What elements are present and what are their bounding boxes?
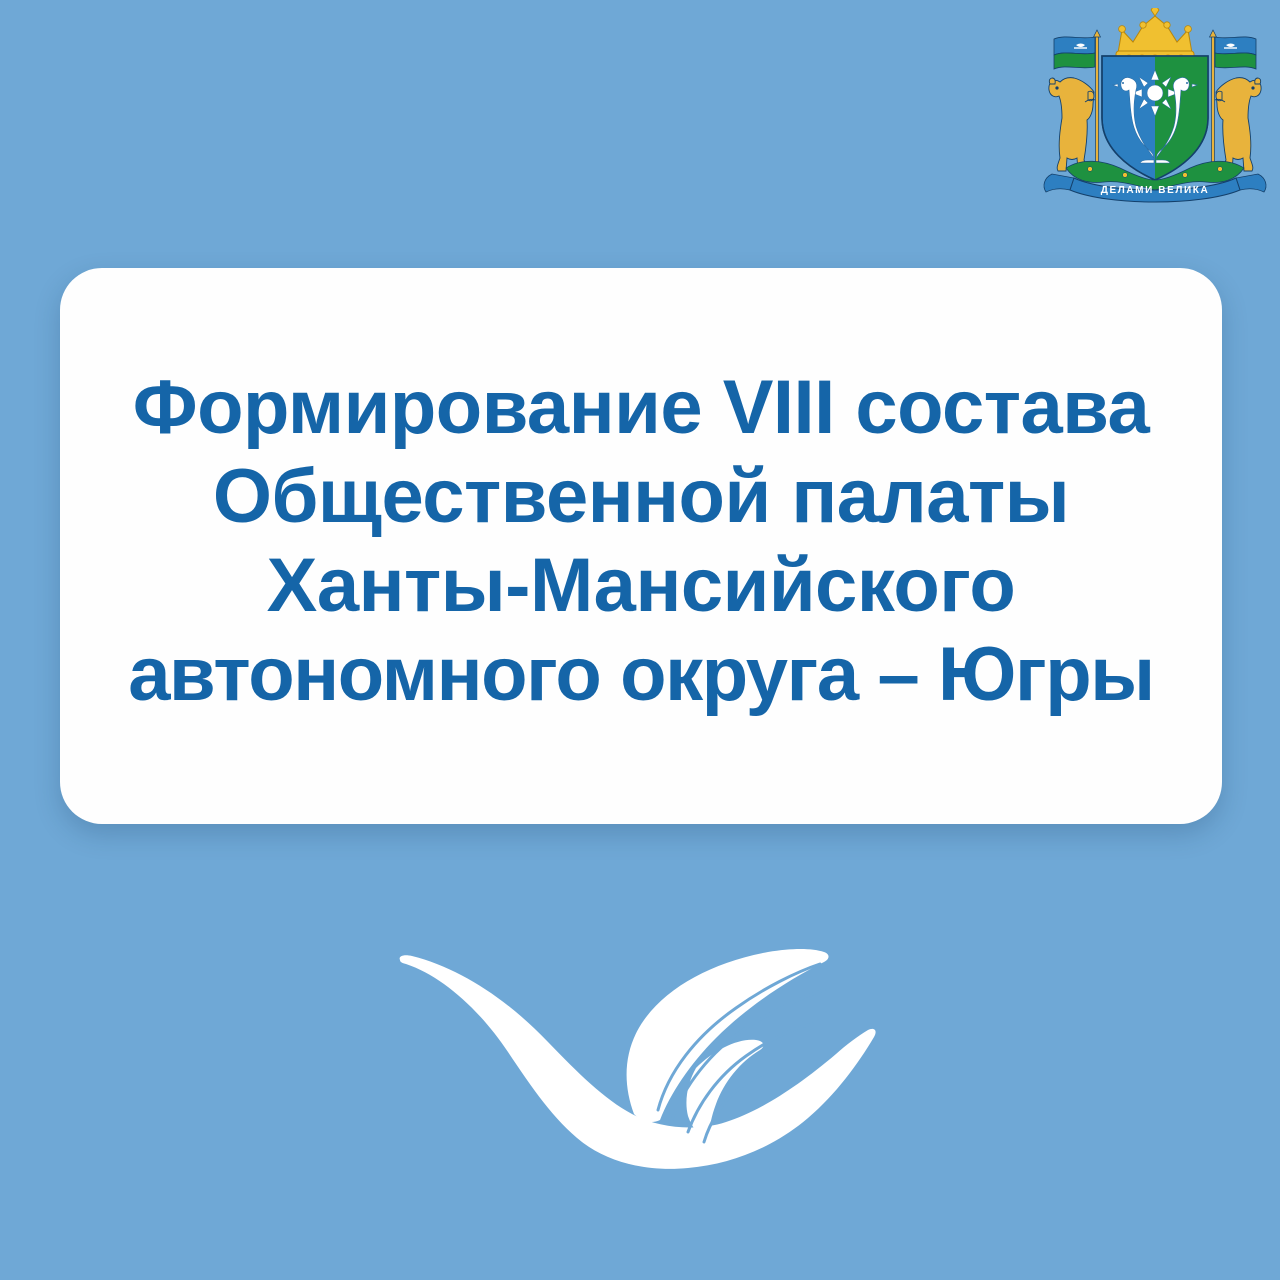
bird-emblem-icon xyxy=(396,942,888,1170)
bear-left-icon xyxy=(1049,78,1095,172)
sun-symbol-icon xyxy=(1132,70,1178,116)
flag-left-icon xyxy=(1054,37,1095,69)
title-line-2: Общественной палаты xyxy=(128,453,1154,542)
bear-right-icon xyxy=(1215,78,1261,172)
title-line-3: Ханты-Мансийского xyxy=(128,542,1154,631)
shield xyxy=(1102,54,1213,184)
flag-right-icon xyxy=(1215,37,1256,69)
motto-text: ДЕЛАМИ ВЕЛИКА xyxy=(1101,185,1210,196)
title-line-4: автономного округа – Югры xyxy=(128,631,1154,720)
crown-icon xyxy=(1116,8,1194,61)
page-title: Формирование VIII состава Общественной п… xyxy=(128,364,1154,720)
title-card: Формирование VIII состава Общественной п… xyxy=(60,268,1222,824)
poster-canvas: ДЕЛАМИ ВЕЛИКА Формирование VIII состава … xyxy=(0,0,1280,1280)
coat-of-arms: ДЕЛАМИ ВЕЛИКА xyxy=(1030,8,1280,213)
title-line-1: Формирование VIII состава xyxy=(128,364,1154,453)
